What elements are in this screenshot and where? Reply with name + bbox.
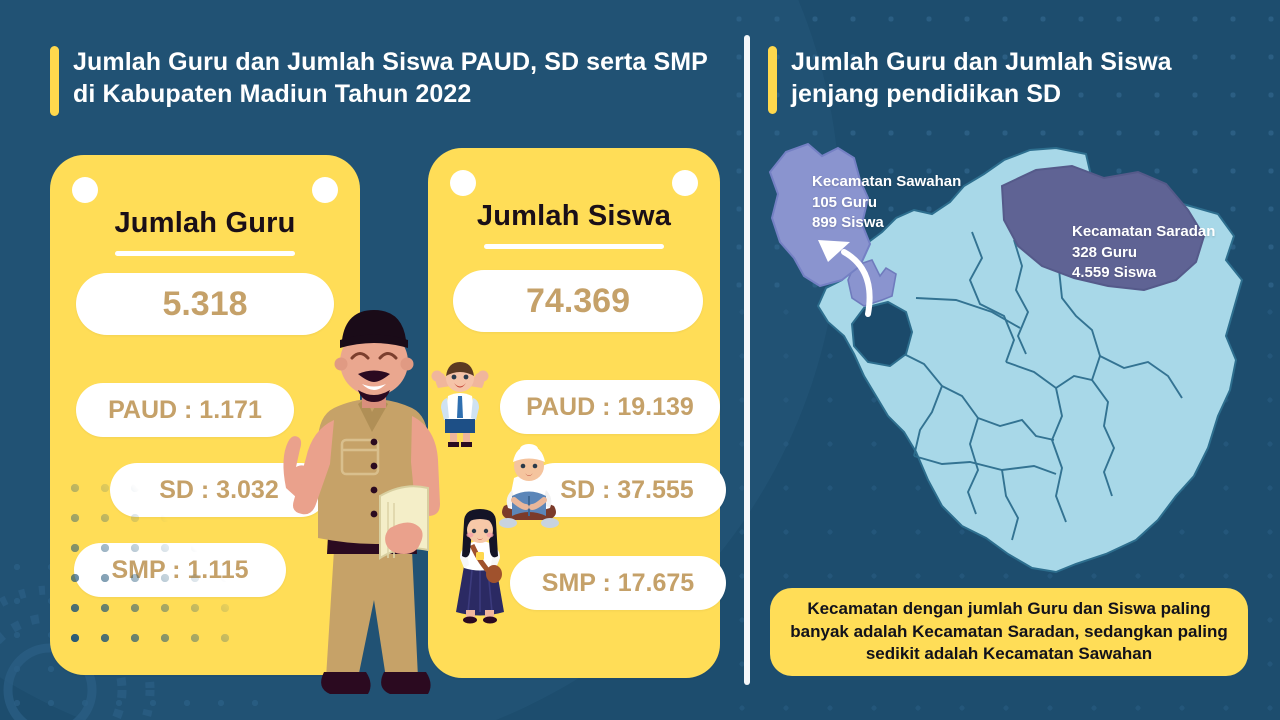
siswa-row-smp: SMP : 17.675 — [510, 556, 726, 610]
card-title-siswa: Jumlah Siswa — [428, 200, 720, 233]
saradan-guru: 328 Guru — [1072, 243, 1215, 264]
map-caption-box: Kecamatan dengan jumlah Guru dan Siswa p… — [770, 588, 1248, 676]
guru-row-smp: SMP : 1.115 — [74, 543, 286, 597]
sawahan-name: Kecamatan Sawahan — [812, 172, 961, 193]
saradan-siswa: 4.559 Siswa — [1072, 263, 1215, 284]
card-punch-hole-left — [450, 170, 476, 196]
title-accent-bar — [50, 46, 59, 116]
card-title-underline — [484, 244, 664, 249]
map-label-saradan: Kecamatan Saradan 328 Guru 4.559 Siswa — [1072, 222, 1215, 284]
smp-girl-student-illustration — [446, 508, 514, 624]
right-title-text: Jumlah Guru dan Jumlah Siswa jenjang pen… — [791, 46, 1238, 110]
saradan-name: Kecamatan Saradan — [1072, 222, 1215, 243]
paud-boy-cheering-illustration — [428, 358, 492, 450]
left-title-text: Jumlah Guru dan Jumlah Siswa PAUD, SD se… — [73, 46, 710, 110]
card-title-underline — [115, 251, 295, 256]
card-punch-hole-right — [312, 177, 338, 203]
panel-divider — [744, 35, 750, 685]
siswa-row-paud: PAUD : 19.139 — [500, 380, 720, 434]
sawahan-guru: 105 Guru — [812, 193, 961, 214]
card-punch-hole-right — [672, 170, 698, 196]
card-punch-hole-left — [72, 177, 98, 203]
siswa-total-value: 74.369 — [453, 270, 703, 332]
title-accent-bar — [768, 46, 777, 114]
card-title-guru: Jumlah Guru — [50, 207, 360, 240]
left-panel-title: Jumlah Guru dan Jumlah Siswa PAUD, SD se… — [50, 46, 710, 116]
right-panel-title: Jumlah Guru dan Jumlah Siswa jenjang pen… — [768, 46, 1238, 114]
map-caption-text: Kecamatan dengan jumlah Guru dan Siswa p… — [786, 598, 1232, 667]
sawahan-siswa: 899 Siswa — [812, 213, 961, 234]
map-label-sawahan: Kecamatan Sawahan 105 Guru 899 Siswa — [812, 172, 961, 234]
